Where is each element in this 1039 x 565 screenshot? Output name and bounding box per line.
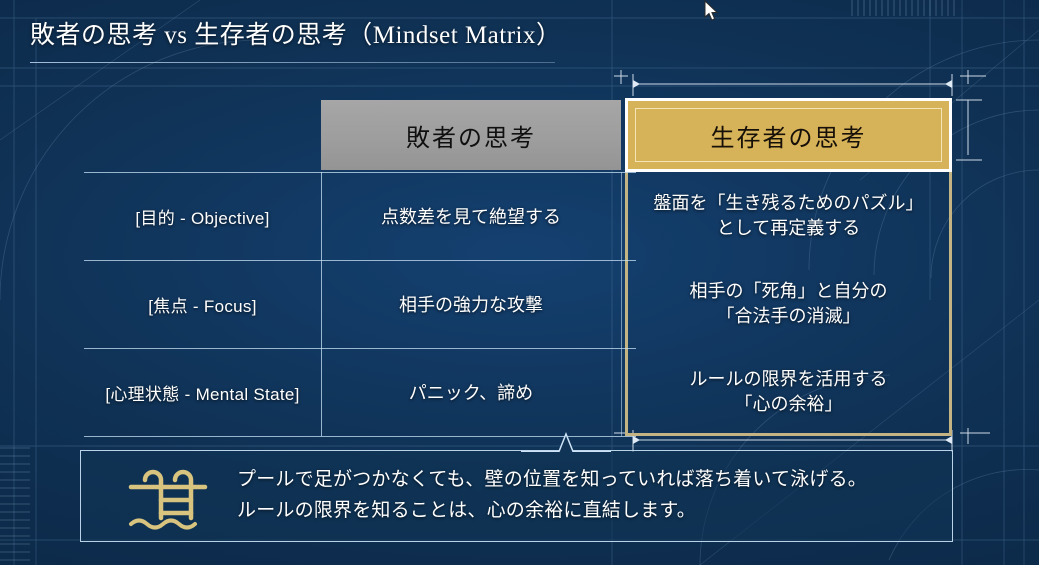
- row-survivor-line2: 「心の余裕」: [690, 392, 888, 417]
- table-row: [焦点 - Focus] 相手の強力な攻撃 相手の「死角」と自分の 「合法手の消…: [84, 260, 952, 348]
- row-label: [焦点 - Focus]: [84, 260, 321, 348]
- table-row: [目的 - Objective] 点数差を見て絶望する 盤面を「生き残るためのパ…: [84, 172, 952, 260]
- column-header-loser: 敗者の思考: [321, 100, 621, 170]
- row-survivor-value: ルールの限界を活用する 「心の余裕」: [625, 348, 952, 436]
- column-header-survivor-label: 生存者の思考: [711, 118, 867, 153]
- page-title-text: 敗者の思考 vs 生存者の思考（Mindset Matrix）: [30, 18, 1039, 54]
- table-header-row: 敗者の思考 生存者の思考: [84, 98, 952, 170]
- row-loser-value: パニック、諦め: [321, 348, 621, 436]
- row-survivor-line1: ルールの限界を活用する: [690, 367, 888, 392]
- mindset-matrix-table: 敗者の思考 生存者の思考 [目的 - Objective] 点数差を見て絶望する…: [84, 98, 952, 436]
- callout-text: プールで足がつかなくても、壁の位置を知っていれば落ち着いて泳げる。 ルールの限界…: [237, 465, 867, 527]
- column-header-loser-label: 敗者の思考: [406, 118, 536, 153]
- column-header-survivor: 生存者の思考: [625, 98, 952, 172]
- page-title: 敗者の思考 vs 生存者の思考（Mindset Matrix）: [30, 18, 1039, 68]
- row-survivor-value: 盤面を「生き残るためのパズル」 として再定義する: [625, 172, 952, 260]
- row-survivor-line2: として再定義する: [654, 216, 924, 241]
- row-label: [目的 - Objective]: [84, 172, 321, 260]
- table-row: [心理状態 - Mental State] パニック、諦め ルールの限界を活用す…: [84, 348, 952, 436]
- row-label: [心理状態 - Mental State]: [84, 348, 321, 436]
- row-survivor-value: 相手の「死角」と自分の 「合法手の消滅」: [625, 260, 952, 348]
- row-survivor-line1: 盤面を「生き残るためのパズル」: [654, 191, 924, 216]
- row-loser-value: 相手の強力な攻撃: [321, 260, 621, 348]
- row-loser-value: 点数差を見て絶望する: [321, 172, 621, 260]
- mouse-cursor: [704, 0, 720, 22]
- callout-line-1: プールで足がつかなくても、壁の位置を知っていれば落ち着いて泳げる。: [237, 465, 867, 496]
- summary-callout: プールで足がつかなくても、壁の位置を知っていれば落ち着いて泳げる。 ルールの限界…: [80, 450, 953, 542]
- callout-pointer-notch: [521, 432, 611, 452]
- row-survivor-line1: 相手の「死角」と自分の: [690, 279, 888, 304]
- title-underline: [30, 62, 555, 63]
- callout-line-2: ルールの限界を知ることは、心の余裕に直結します。: [237, 496, 867, 527]
- row-survivor-line2: 「合法手の消滅」: [690, 304, 888, 329]
- pool-ladder-icon: [119, 460, 223, 532]
